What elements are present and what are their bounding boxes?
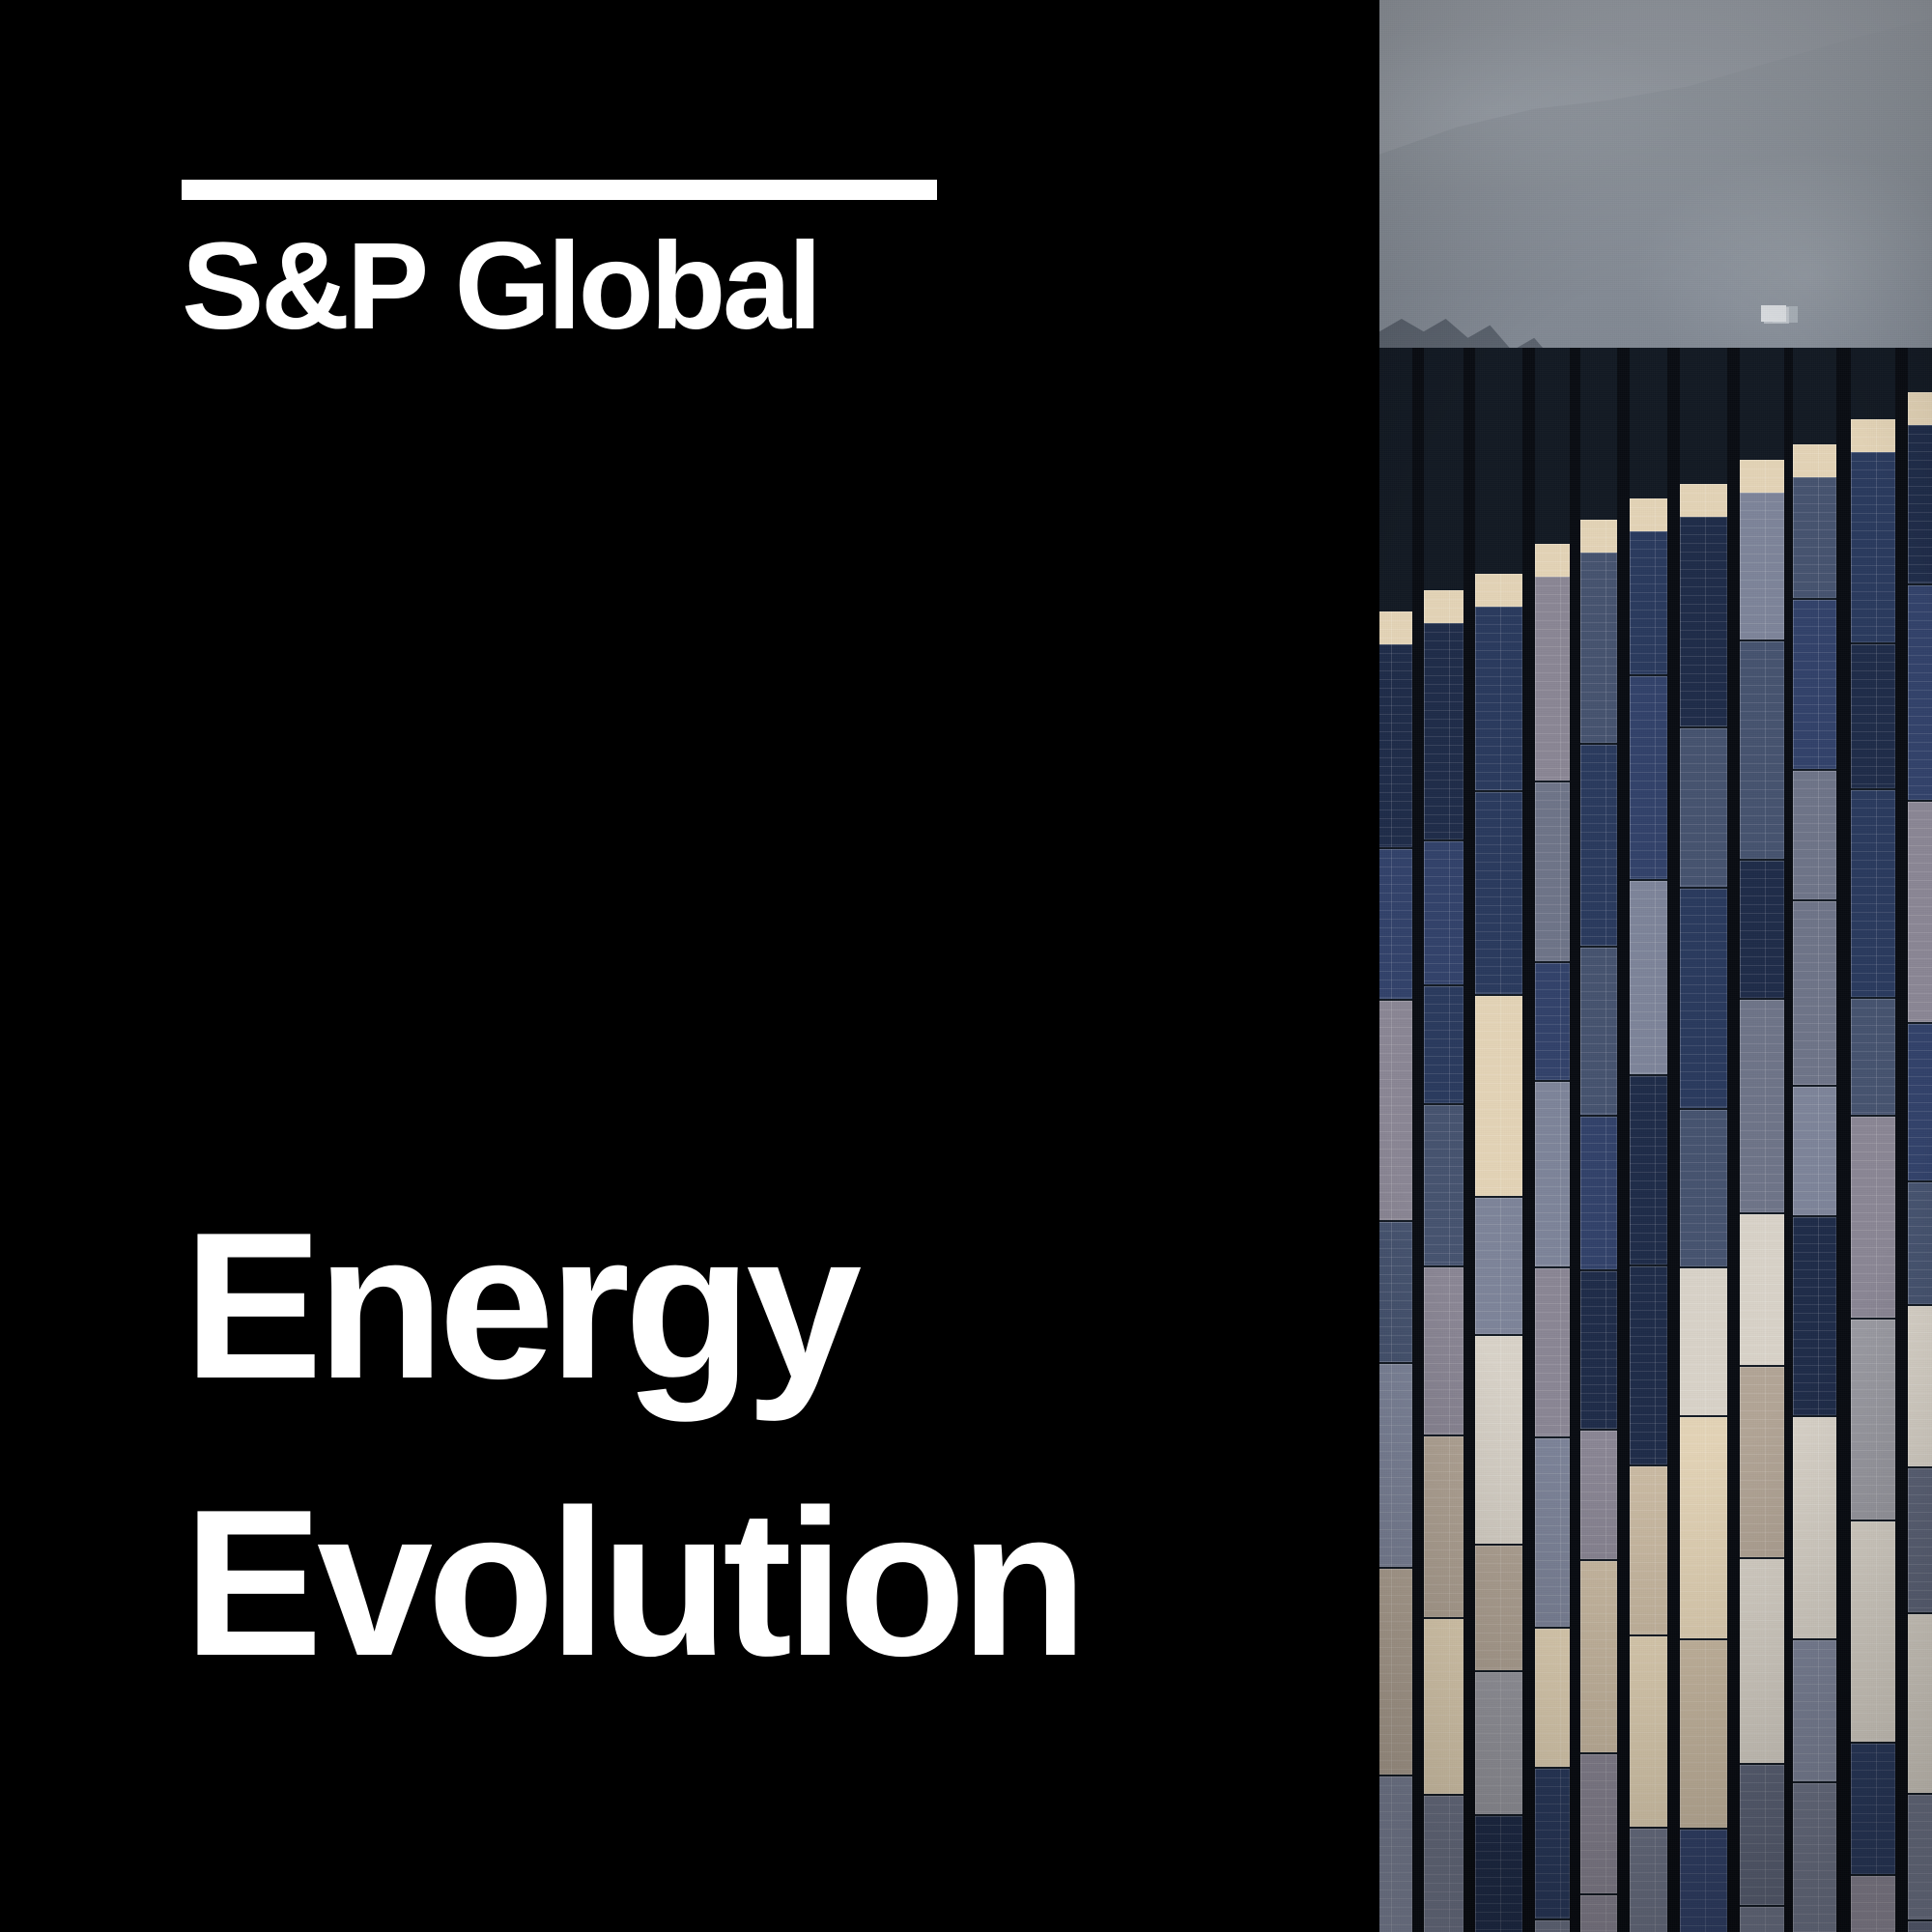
solar-panel-cell — [1851, 1521, 1895, 1742]
solar-panel-cell — [1908, 802, 1932, 1022]
sunlit-roof-cap — [1740, 460, 1784, 493]
solar-panel-cell — [1424, 1619, 1463, 1794]
show-title: Energy Evolution — [184, 1167, 1294, 1722]
solar-panel-cell — [1680, 1640, 1727, 1828]
solar-panel-cell — [1535, 782, 1570, 961]
solar-panel-cell — [1908, 1306, 1932, 1466]
solar-panel-cell — [1630, 1266, 1667, 1464]
solar-panel-cell — [1740, 641, 1784, 859]
solar-panel-cell — [1908, 425, 1932, 583]
solar-panel-cell — [1851, 1117, 1895, 1318]
solar-panel-cell — [1630, 531, 1667, 674]
solar-panel-cell — [1630, 881, 1667, 1074]
solar-panel-cell — [1908, 1468, 1932, 1612]
solar-panel-cell — [1424, 623, 1463, 839]
solar-fin-column — [1740, 348, 1784, 1932]
solar-fin-column — [1630, 348, 1667, 1932]
solar-panel-cell — [1680, 1268, 1727, 1415]
solar-panel-cell — [1535, 1268, 1570, 1436]
solar-fin-column — [1580, 348, 1617, 1932]
facade-shadow-gap — [1895, 348, 1908, 1932]
solar-panel-cell — [1379, 644, 1412, 847]
solar-panel-cell — [1740, 1907, 1784, 1932]
solar-panel-cell — [1630, 1636, 1667, 1827]
solar-panel-cell — [1793, 477, 1836, 598]
show-title-line-1: Energy — [184, 1167, 1294, 1444]
solar-panel-cell — [1680, 1830, 1727, 1932]
solar-panel-cell — [1740, 1559, 1784, 1763]
solar-panel-cell — [1424, 986, 1463, 1103]
solar-panel-cell — [1475, 1672, 1522, 1814]
solar-panel-cell — [1475, 1336, 1522, 1544]
solar-panel-cell — [1379, 1001, 1412, 1220]
sunlit-roof-cap — [1580, 520, 1617, 553]
solar-panel-cell — [1851, 1320, 1895, 1520]
facade-shadow-gap — [1463, 348, 1475, 1932]
facade-shadow-gap — [1412, 348, 1424, 1932]
solar-panel-cell — [1793, 1640, 1836, 1781]
solar-panel-cell — [1424, 1267, 1463, 1435]
solar-panel-cell — [1424, 1796, 1463, 1932]
facade-shadow-gap — [1727, 348, 1740, 1932]
solar-panel-cell — [1630, 676, 1667, 879]
solar-panel-cell — [1740, 1000, 1784, 1212]
solar-fin-column — [1793, 348, 1836, 1932]
solar-panel-cell — [1908, 1795, 1932, 1919]
solar-panel-cell — [1535, 577, 1570, 781]
solar-panel-cell — [1580, 1117, 1617, 1269]
solar-panel-cell — [1680, 1417, 1727, 1638]
solar-fin-column — [1908, 348, 1932, 1932]
facade-shadow-gap — [1617, 348, 1630, 1932]
solar-panel-cell — [1580, 745, 1617, 946]
solar-panel-tower — [1379, 348, 1932, 1932]
solar-panel-cell — [1851, 1876, 1895, 1932]
solar-panel-cell — [1475, 996, 1522, 1196]
solar-panel-cell — [1580, 1561, 1617, 1752]
solar-panel-cell — [1424, 1105, 1463, 1265]
solar-panel-cell — [1580, 948, 1617, 1115]
solar-panel-cell — [1908, 1182, 1932, 1304]
solar-panel-cell — [1851, 1744, 1895, 1874]
solar-panel-cell — [1535, 1082, 1570, 1266]
solar-panel-cell — [1580, 553, 1617, 743]
solar-fin-column — [1680, 348, 1727, 1932]
logo-wordmark: S&P Global — [182, 230, 937, 344]
solar-panel-cell — [1680, 728, 1727, 887]
sp-global-logo[interactable]: S&P Global — [182, 180, 937, 344]
show-title-line-2: Evolution — [184, 1444, 1294, 1721]
solar-panel-cell — [1793, 1087, 1836, 1215]
solar-panel-cell — [1680, 517, 1727, 726]
solar-panel-cell — [1793, 1783, 1836, 1932]
solar-panel-cell — [1793, 1217, 1836, 1415]
sunlit-roof-cap — [1908, 392, 1932, 425]
sunlit-roof-cap — [1793, 444, 1836, 477]
solar-fin-column — [1535, 348, 1570, 1932]
cover-photograph — [1379, 0, 1932, 1932]
solar-panel-cell — [1475, 792, 1522, 994]
sunlit-roof-cap — [1475, 574, 1522, 607]
solar-panel-cell — [1793, 901, 1836, 1085]
solar-panel-cell — [1379, 1364, 1412, 1567]
solar-panel-cell — [1851, 790, 1895, 997]
podcast-cover-art: S&P Global Energy Evolution — [0, 0, 1932, 1932]
solar-panel-cell — [1580, 1895, 1617, 1932]
solar-panel-cell — [1379, 1569, 1412, 1775]
facade-shadow-gap — [1836, 348, 1851, 1932]
sunlit-roof-cap — [1379, 611, 1412, 644]
solar-fin-column — [1379, 348, 1412, 1932]
solar-panel-cell — [1630, 1829, 1667, 1932]
solar-panel-cell — [1379, 1222, 1412, 1362]
sunlit-roof-cap — [1535, 544, 1570, 577]
solar-panel-cell — [1851, 644, 1895, 788]
solar-panel-cell — [1535, 1438, 1570, 1627]
solar-fin-column — [1424, 348, 1463, 1932]
solar-panel-cell — [1580, 1271, 1617, 1429]
solar-panel-cell — [1793, 771, 1836, 899]
solar-panel-cell — [1680, 1110, 1727, 1266]
solar-panel-cell — [1793, 600, 1836, 769]
solar-panel-cell — [1740, 493, 1784, 639]
solar-panel-cell — [1851, 999, 1895, 1115]
facade-shadow-gap — [1667, 348, 1680, 1932]
solar-panel-cell — [1680, 889, 1727, 1108]
logo-rule-icon — [182, 180, 937, 200]
solar-fin-column — [1851, 348, 1895, 1932]
sunlit-roof-cap — [1680, 484, 1727, 517]
sunlit-roof-cap — [1630, 498, 1667, 531]
solar-panel-cell — [1740, 1765, 1784, 1905]
solar-panel-cell — [1475, 607, 1522, 790]
solar-panel-cell — [1630, 1076, 1667, 1264]
solar-panel-cell — [1580, 1754, 1617, 1893]
title-panel: S&P Global Energy Evolution — [0, 0, 1379, 1932]
solar-panel-cell — [1379, 849, 1412, 999]
solar-panel-cell — [1793, 1417, 1836, 1638]
solar-panel-cell — [1740, 861, 1784, 998]
hillside-building — [1761, 305, 1786, 322]
solar-panel-cell — [1535, 963, 1570, 1080]
solar-panel-cell — [1535, 1629, 1570, 1767]
solar-panel-cell — [1908, 1614, 1932, 1793]
solar-panel-cell — [1535, 1920, 1570, 1932]
solar-panel-cell — [1908, 585, 1932, 800]
solar-panel-cell — [1851, 452, 1895, 642]
solar-fin-column — [1475, 348, 1522, 1932]
solar-panel-cell — [1475, 1816, 1522, 1932]
solar-panel-cell — [1908, 1921, 1932, 1932]
solar-panel-cell — [1908, 1024, 1932, 1180]
sunlit-roof-cap — [1424, 590, 1463, 623]
solar-panel-cell — [1535, 1769, 1570, 1918]
solar-panel-cell — [1424, 1436, 1463, 1617]
solar-panel-cell — [1424, 841, 1463, 984]
solar-panel-cell — [1580, 1431, 1617, 1559]
facade-shadow-gap — [1570, 348, 1580, 1932]
facade-shadow-gap — [1784, 348, 1793, 1932]
facade-shadow-gap — [1522, 348, 1535, 1932]
sunlit-roof-cap — [1851, 419, 1895, 452]
solar-panel-cell — [1630, 1466, 1667, 1634]
solar-panel-cell — [1740, 1214, 1784, 1365]
solar-panel-cell — [1475, 1546, 1522, 1670]
solar-panel-cell — [1379, 1776, 1412, 1932]
solar-panel-cell — [1475, 1198, 1522, 1334]
solar-panel-cell — [1740, 1367, 1784, 1557]
